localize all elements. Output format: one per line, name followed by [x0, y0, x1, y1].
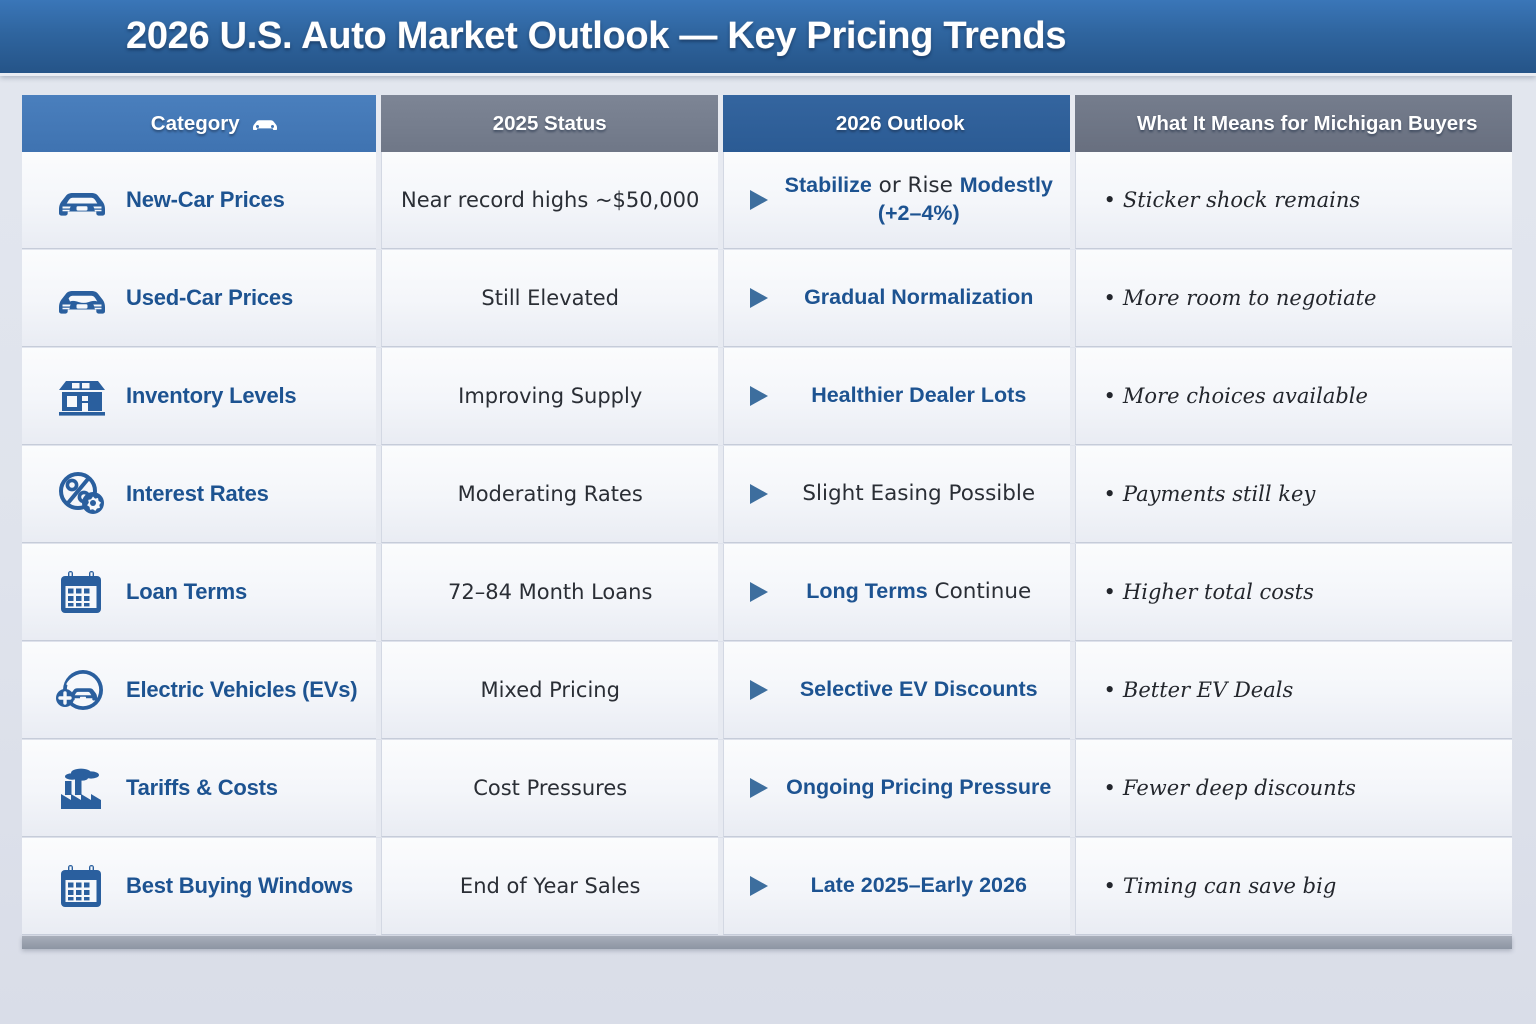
pricing-trends-table: Category 2025 Status 2026 Outlook What I… [22, 95, 1512, 949]
table-footer-bar [22, 936, 1512, 949]
category-label: New-Car Prices [126, 187, 285, 213]
means-text: Timing can save big [1123, 874, 1336, 898]
outlook-cell: Stabilize or Rise Modestly(+2–4%) [723, 152, 1070, 249]
table-row: Tariffs & Costs Cost Pressures Ongoing P… [22, 740, 1512, 837]
bullet-icon: • [1104, 874, 1116, 898]
category-label: Inventory Levels [126, 383, 296, 409]
outlook-segment: Late 2025–Early 2026 [811, 873, 1027, 897]
status-label: Mixed Pricing [480, 678, 619, 702]
outlook-cell: Long Terms Continue [723, 544, 1070, 641]
means-cell: •Sticker shock remains [1075, 152, 1512, 249]
category-cell[interactable]: New-Car Prices [22, 152, 376, 249]
status-cell: Mixed Pricing [381, 642, 718, 739]
table-row: Used-Car Prices Still Elevated Gradual N… [22, 250, 1512, 347]
column-header-2026-outlook: 2026 Outlook [723, 95, 1070, 152]
outlook-cell: Selective EV Discounts [723, 642, 1070, 739]
electric-vehicle-icon [54, 662, 110, 718]
column-header-category: Category [22, 95, 376, 152]
category-cell[interactable]: Interest Rates [22, 446, 376, 543]
status-cell: Improving Supply [381, 348, 718, 445]
means-label: •Sticker shock remains [1104, 188, 1361, 212]
outlook-label: Stabilize or Rise Modestly(+2–4%) [782, 172, 1056, 227]
means-label: •Fewer deep discounts [1104, 776, 1356, 800]
table-row: Interest Rates Moderating Rates Slight E… [22, 446, 1512, 543]
play-triangle-icon [746, 186, 772, 214]
means-cell: •More room to negotiate [1075, 250, 1512, 347]
category-label: Interest Rates [126, 481, 269, 507]
outlook-label: Long Terms Continue [782, 578, 1056, 606]
means-text: Higher total costs [1123, 580, 1314, 604]
table-row: Inventory Levels Improving Supply Health… [22, 348, 1512, 445]
outlook-cell: Slight Easing Possible [723, 446, 1070, 543]
means-text: More choices available [1123, 384, 1368, 408]
means-text: Payments still key [1123, 482, 1315, 506]
means-label: •Timing can save big [1104, 874, 1337, 898]
category-label: Electric Vehicles (EVs) [126, 677, 357, 703]
outlook-segment: Gradual Normalization [804, 285, 1033, 309]
column-header-michigan-buyers: What It Means for Michigan Buyers [1075, 95, 1512, 152]
page-title: 2026 U.S. Auto Market Outlook — Key Pric… [126, 15, 1066, 58]
bullet-icon: • [1104, 482, 1116, 506]
bullet-icon: • [1104, 776, 1116, 800]
status-cell: 72–84 Month Loans [381, 544, 718, 641]
play-triangle-icon [746, 774, 772, 802]
status-label: Near record highs ~$50,000 [401, 188, 699, 212]
table-body: New-Car Prices Near record highs ~$50,00… [22, 152, 1512, 935]
outlook-label: Ongoing Pricing Pressure [782, 774, 1056, 802]
outlook-cell: Healthier Dealer Lots [723, 348, 1070, 445]
means-cell: •Higher total costs [1075, 544, 1512, 641]
calendar-icon [54, 858, 110, 914]
outlook-segment: Long Terms [806, 579, 927, 603]
status-cell: Still Elevated [381, 250, 718, 347]
category-label: Used-Car Prices [126, 285, 293, 311]
bullet-icon: • [1104, 678, 1116, 702]
outlook-segment: Slight Easing Possible [802, 481, 1035, 506]
column-header-category-label: Category [151, 112, 240, 136]
table-row: New-Car Prices Near record highs ~$50,00… [22, 152, 1512, 249]
outlook-cell: Ongoing Pricing Pressure [723, 740, 1070, 837]
category-cell[interactable]: Electric Vehicles (EVs) [22, 642, 376, 739]
dealership-icon [54, 368, 110, 424]
outlook-label: Selective EV Discounts [782, 676, 1056, 704]
calendar-icon [54, 564, 110, 620]
used-car-icon [54, 270, 110, 326]
means-cell: •Timing can save big [1075, 838, 1512, 935]
means-cell: •Payments still key [1075, 446, 1512, 543]
column-header-2025-status: 2025 Status [381, 95, 718, 152]
percent-rate-icon [54, 466, 110, 522]
means-label: •Better EV Deals [1104, 678, 1294, 702]
means-label: •Higher total costs [1104, 580, 1314, 604]
status-label: 72–84 Month Loans [448, 580, 652, 604]
status-label: Moderating Rates [458, 482, 643, 506]
outlook-label: Slight Easing Possible [782, 480, 1056, 508]
table-header-row: Category 2025 Status 2026 Outlook What I… [22, 95, 1512, 152]
outlook-segment: Stabilize [785, 173, 872, 197]
category-cell[interactable]: Used-Car Prices [22, 250, 376, 347]
outlook-cell: Late 2025–Early 2026 [723, 838, 1070, 935]
category-cell[interactable]: Loan Terms [22, 544, 376, 641]
category-label: Tariffs & Costs [126, 775, 278, 801]
table-row: Best Buying Windows End of Year Sales La… [22, 838, 1512, 935]
outlook-segment: or Rise [872, 173, 960, 198]
play-triangle-icon [746, 382, 772, 410]
play-triangle-icon [746, 872, 772, 900]
means-label: •More choices available [1104, 384, 1368, 408]
play-triangle-icon [746, 676, 772, 704]
category-label: Loan Terms [126, 579, 247, 605]
status-cell: End of Year Sales [381, 838, 718, 935]
category-label: Best Buying Windows [126, 873, 353, 899]
play-triangle-icon [746, 578, 772, 606]
status-label: End of Year Sales [460, 874, 641, 898]
new-car-icon [54, 172, 110, 228]
means-text: Better EV Deals [1123, 678, 1293, 702]
category-cell[interactable]: Best Buying Windows [22, 838, 376, 935]
means-label: •Payments still key [1104, 482, 1316, 506]
outlook-cell: Gradual Normalization [723, 250, 1070, 347]
status-label: Improving Supply [458, 384, 642, 408]
means-text: Sticker shock remains [1123, 188, 1360, 212]
outlook-segment: Ongoing Pricing Pressure [786, 775, 1051, 799]
play-triangle-icon [746, 284, 772, 312]
play-triangle-icon [746, 480, 772, 508]
title-bar: 2026 U.S. Auto Market Outlook — Key Pric… [0, 0, 1536, 76]
status-label: Still Elevated [481, 286, 619, 310]
bullet-icon: • [1104, 188, 1116, 212]
outlook-segment: Continue [928, 579, 1032, 604]
outlook-segment: Healthier Dealer Lots [811, 383, 1026, 407]
category-cell[interactable]: Tariffs & Costs [22, 740, 376, 837]
status-cell: Cost Pressures [381, 740, 718, 837]
status-label: Cost Pressures [473, 776, 627, 800]
outlook-segment: Selective EV Discounts [800, 677, 1038, 701]
outlook-subtext: (+2–4%) [782, 200, 1056, 228]
factory-icon [54, 760, 110, 816]
bullet-icon: • [1104, 286, 1116, 310]
table-row: Electric Vehicles (EVs) Mixed Pricing Se… [22, 642, 1512, 739]
car-icon [250, 116, 280, 132]
bullet-icon: • [1104, 384, 1116, 408]
table-row: Loan Terms 72–84 Month Loans Long Terms … [22, 544, 1512, 641]
means-cell: •More choices available [1075, 348, 1512, 445]
means-text: More room to negotiate [1123, 286, 1377, 310]
means-cell: •Better EV Deals [1075, 642, 1512, 739]
bullet-icon: • [1104, 580, 1116, 604]
outlook-segment: Modestly [960, 173, 1053, 197]
status-cell: Moderating Rates [381, 446, 718, 543]
outlook-label: Gradual Normalization [782, 284, 1056, 312]
category-cell[interactable]: Inventory Levels [22, 348, 376, 445]
means-text: Fewer deep discounts [1123, 776, 1356, 800]
means-label: •More room to negotiate [1104, 286, 1377, 310]
outlook-label: Late 2025–Early 2026 [782, 872, 1056, 900]
means-cell: •Fewer deep discounts [1075, 740, 1512, 837]
outlook-label: Healthier Dealer Lots [782, 382, 1056, 410]
status-cell: Near record highs ~$50,000 [381, 152, 718, 249]
